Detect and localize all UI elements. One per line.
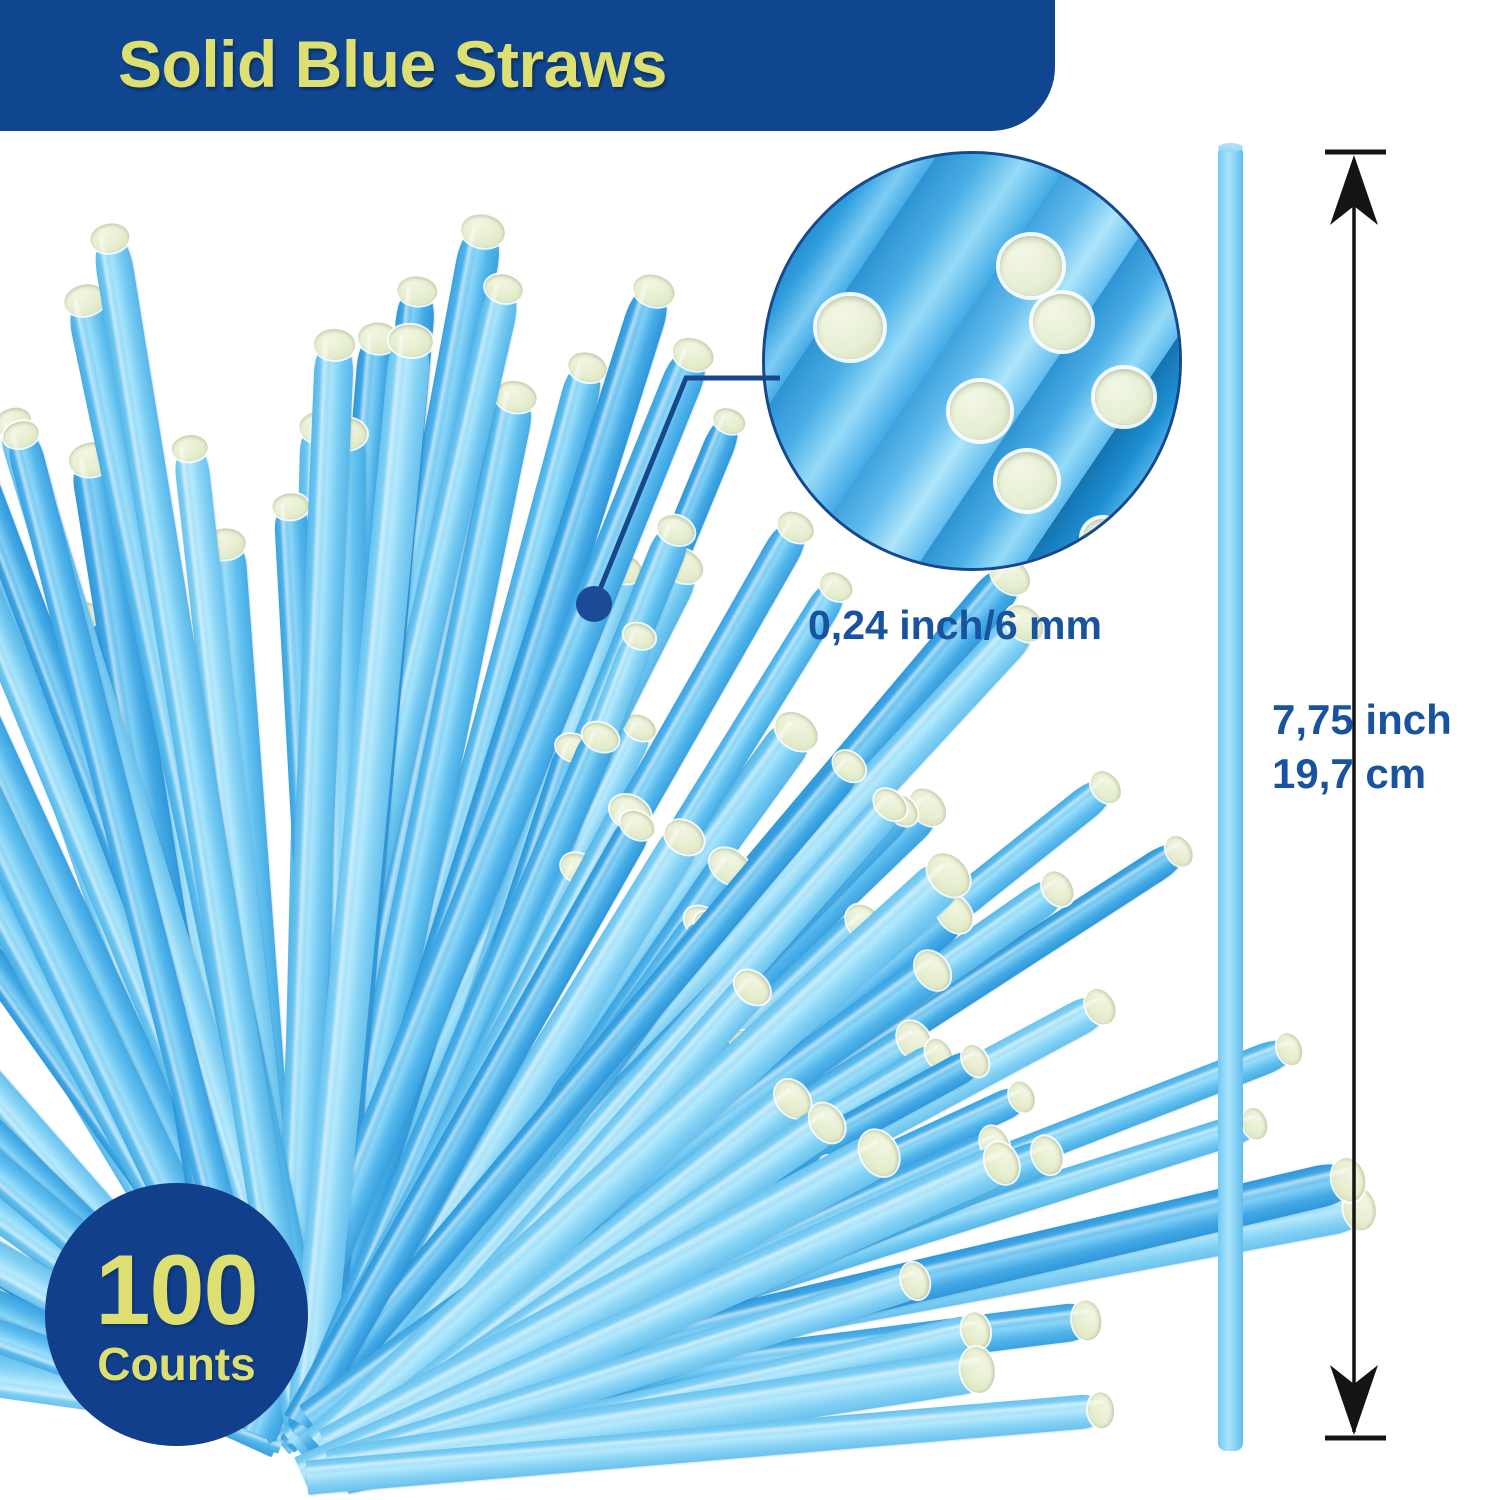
magnified-straw-opening [1000, 236, 1062, 296]
straw-opening [272, 492, 309, 520]
length-inch: 7,75 inch [1272, 693, 1452, 747]
page-title: Solid Blue Straws [118, 26, 667, 102]
magnified-straw-opening [817, 296, 883, 359]
magnified-straw-opening [1095, 369, 1153, 425]
straw-opening [1239, 1105, 1271, 1143]
straw-opening [171, 433, 210, 464]
length-cm: 19,7 cm [1272, 747, 1452, 801]
magnifier-circle-icon [762, 151, 1182, 571]
badge-label: Counts [97, 1341, 255, 1387]
badge-count: 100 [95, 1242, 257, 1337]
magnified-straw-opening [1033, 294, 1091, 350]
straw-opening [88, 220, 131, 254]
length-label: 7,75 inch 19,7 cm [1272, 693, 1452, 801]
diameter-label: 0,24 inch/6 mm [808, 602, 1102, 649]
magnified-straw-opening [997, 452, 1057, 510]
status-badge: 100 Counts [45, 1183, 308, 1446]
straw-opening [1273, 1030, 1308, 1070]
straw-opening [957, 1345, 998, 1396]
straw-opening [1086, 1392, 1116, 1430]
header-banner: Solid Blue Straws [0, 0, 1055, 131]
magnified-straw-opening [1083, 519, 1123, 557]
magnified-straw-opening [950, 382, 1010, 440]
single-straw-icon [1218, 143, 1243, 1451]
straw-opening [1069, 1299, 1104, 1343]
